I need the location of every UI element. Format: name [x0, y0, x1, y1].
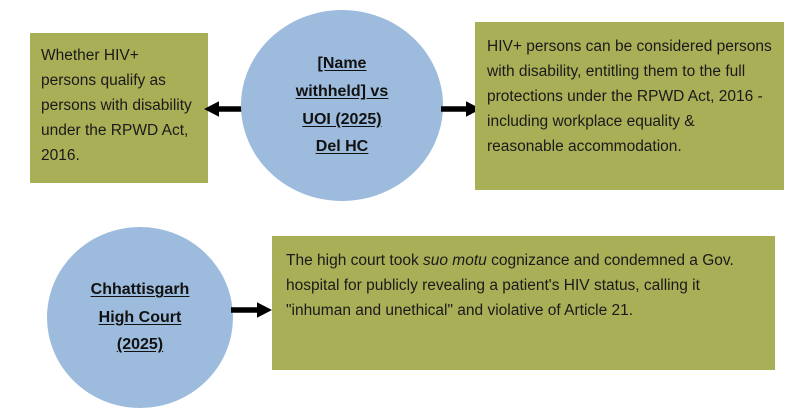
case-line-4: Del HC [316, 138, 368, 155]
chhattisgarh-text-segment-1: The high court took [286, 252, 423, 269]
diagram-canvas: Whether HIV+ persons qualify as persons … [0, 0, 794, 418]
case-line-3: UOI (2025) [302, 111, 381, 128]
chhattisgarh-holding-text: The high court took suo motu cognizance … [286, 248, 763, 323]
court-line-3: (2025) [117, 336, 163, 353]
issue-text: Whether HIV+ persons qualify as persons … [41, 43, 198, 169]
arrow-left-icon [204, 100, 244, 118]
holding-text: HIV+ persons can be considered persons w… [487, 34, 774, 160]
node-chhattisgarh-hc-label: Chhattisgarh High Court (2025) [77, 276, 204, 359]
case-line-2: withheld] vs [296, 83, 388, 100]
issue-text-box: Whether HIV+ persons qualify as persons … [30, 33, 208, 183]
node-delhi-hc-case[interactable]: [Name withheld] vs UOI (2025) Del HC [241, 10, 443, 201]
node-delhi-hc-case-label: [Name withheld] vs UOI (2025) Del HC [282, 50, 402, 160]
chhattisgarh-text-italic: suo motu [423, 252, 487, 269]
holding-text-box: HIV+ persons can be considered persons w… [475, 22, 784, 190]
node-chhattisgarh-hc[interactable]: Chhattisgarh High Court (2025) [47, 227, 233, 408]
chhattisgarh-holding-text-box: The high court took suo motu cognizance … [272, 236, 775, 370]
arrow-right-bottom-icon [231, 301, 272, 319]
court-line-2: High Court [99, 309, 182, 326]
court-line-1: Chhattisgarh [91, 281, 190, 298]
case-line-1: [Name [318, 55, 367, 72]
